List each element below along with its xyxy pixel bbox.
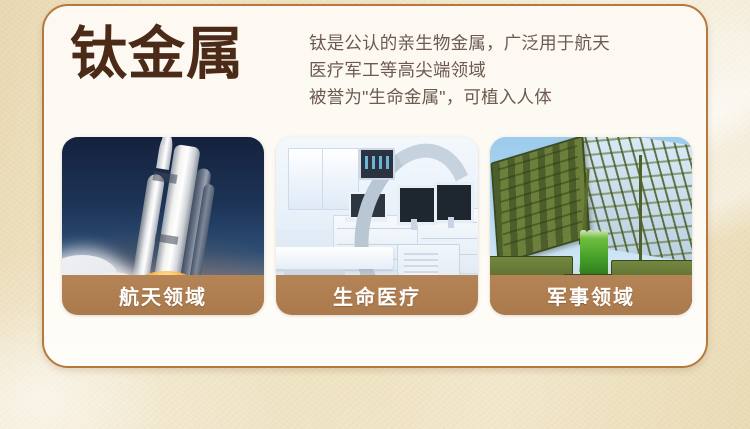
header-section: 钛金属 钛是公认的亲生物金属，广泛用于航天 医疗军工等高尖端领域 被誉为"生命金…	[44, 6, 706, 126]
card-caption-aerospace: 航天领域	[62, 275, 264, 315]
card-caption-military: 军事领域	[490, 275, 692, 315]
description-line-1: 钛是公认的亲生物金属，广泛用于航天	[309, 30, 694, 57]
promo-banner: 钛金属 钛是公认的亲生物金属，广泛用于航天 医疗军工等高尖端领域 被誉为"生命金…	[0, 0, 750, 429]
description-line-3: 被誉为"生命金属"，可植入人体	[309, 84, 694, 111]
description-line-2: 医疗军工等高尖端领域	[309, 57, 694, 84]
card-caption-medical: 生命医疗	[276, 275, 478, 315]
content-panel: 钛金属 钛是公认的亲生物金属，广泛用于航天 医疗军工等高尖端领域 被誉为"生命金…	[42, 4, 708, 368]
application-cards: 航天领域	[62, 137, 692, 320]
header-description: 钛是公认的亲生物金属，广泛用于航天 医疗军工等高尖端领域 被誉为"生命金属"，可…	[309, 30, 694, 111]
card-medical[interactable]: 生命医疗	[276, 137, 478, 315]
card-military[interactable]: 军事领域	[490, 137, 692, 315]
card-aerospace[interactable]: 航天领域	[62, 137, 264, 315]
page-title: 钛金属	[70, 23, 244, 85]
